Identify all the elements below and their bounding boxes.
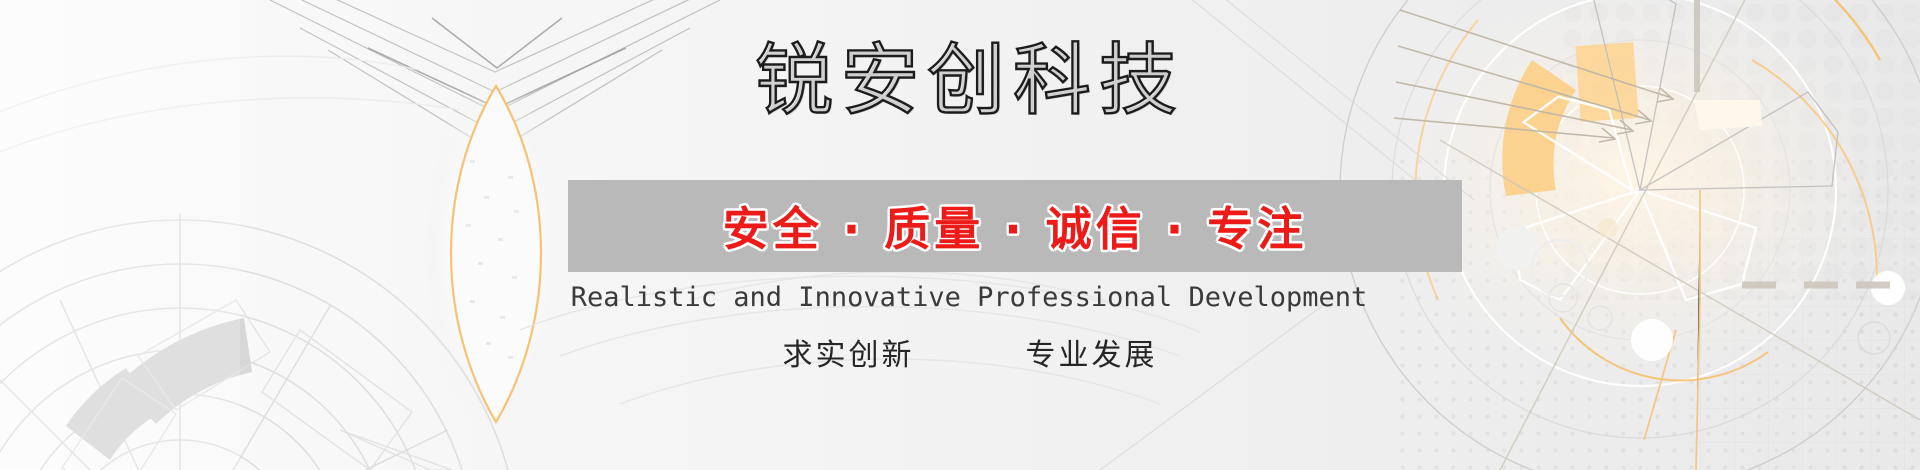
slogan-text: 安全 · 质量 · 诚信 · 专注 — [568, 180, 1462, 272]
cn-subline-left: 求实创新 — [782, 338, 914, 373]
cn-subline: 求实创新 专业发展 — [0, 330, 1920, 374]
company-banner: 锐安创科技 安全 · 质量 · 诚信 · 专注 Realistic and In… — [0, 0, 1920, 470]
cn-subline-right: 专业发展 — [1026, 338, 1158, 373]
english-tagline: Realistic and Innovative Professional De… — [0, 282, 1920, 313]
page-title: 锐安创科技 — [0, 38, 1920, 124]
banner-content: 锐安创科技 安全 · 质量 · 诚信 · 专注 Realistic and In… — [0, 0, 1920, 470]
